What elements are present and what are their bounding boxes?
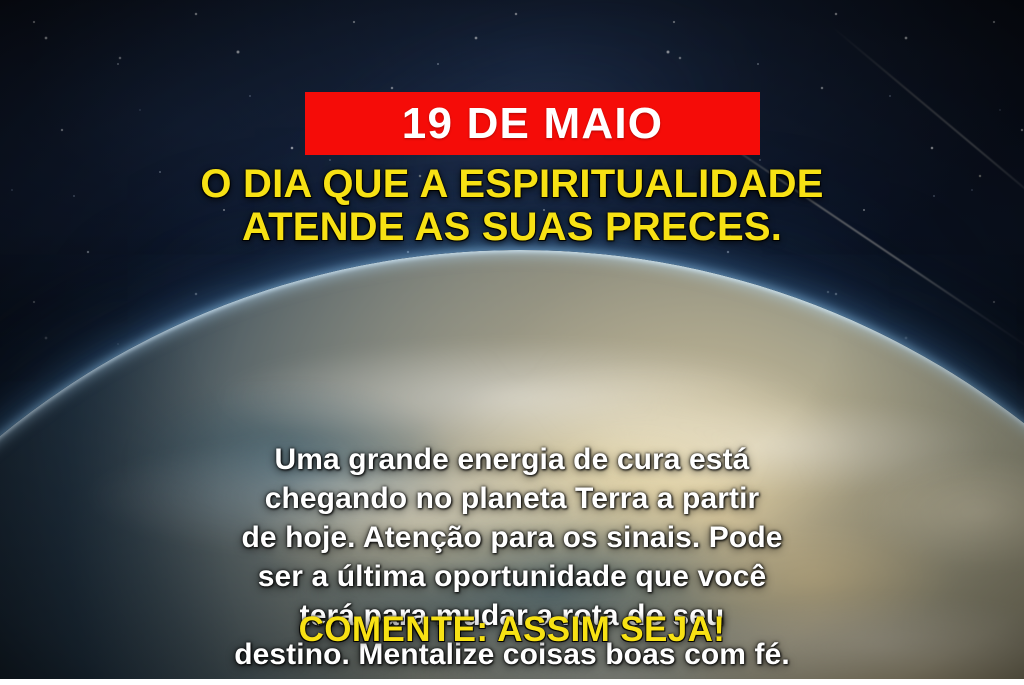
bottom-white-strip [0,679,1024,685]
poster-image: 19 DE MAIO O DIA QUE A ESPIRITUALIDADE A… [0,0,1024,685]
body-line-2: chegando no planeta Terra a partir [0,479,1024,518]
date-banner-text: 19 DE MAIO [402,102,663,146]
call-to-action-text: COMENTE: ASSIM SEJA! [0,612,1024,647]
body-line-3: de hoje. Atenção para os sinais. Pode [0,518,1024,557]
poster-text-layer: 19 DE MAIO O DIA QUE A ESPIRITUALIDADE A… [0,0,1024,685]
body-line-4: ser a última oportunidade que você [0,557,1024,596]
headline-line-2: ATENDE AS SUAS PRECES. [0,206,1024,249]
headline: O DIA QUE A ESPIRITUALIDADE ATENDE AS SU… [0,163,1024,249]
body-line-1: Uma grande energia de cura está [0,440,1024,479]
date-banner: 19 DE MAIO [305,92,760,155]
headline-line-1: O DIA QUE A ESPIRITUALIDADE [0,163,1024,206]
